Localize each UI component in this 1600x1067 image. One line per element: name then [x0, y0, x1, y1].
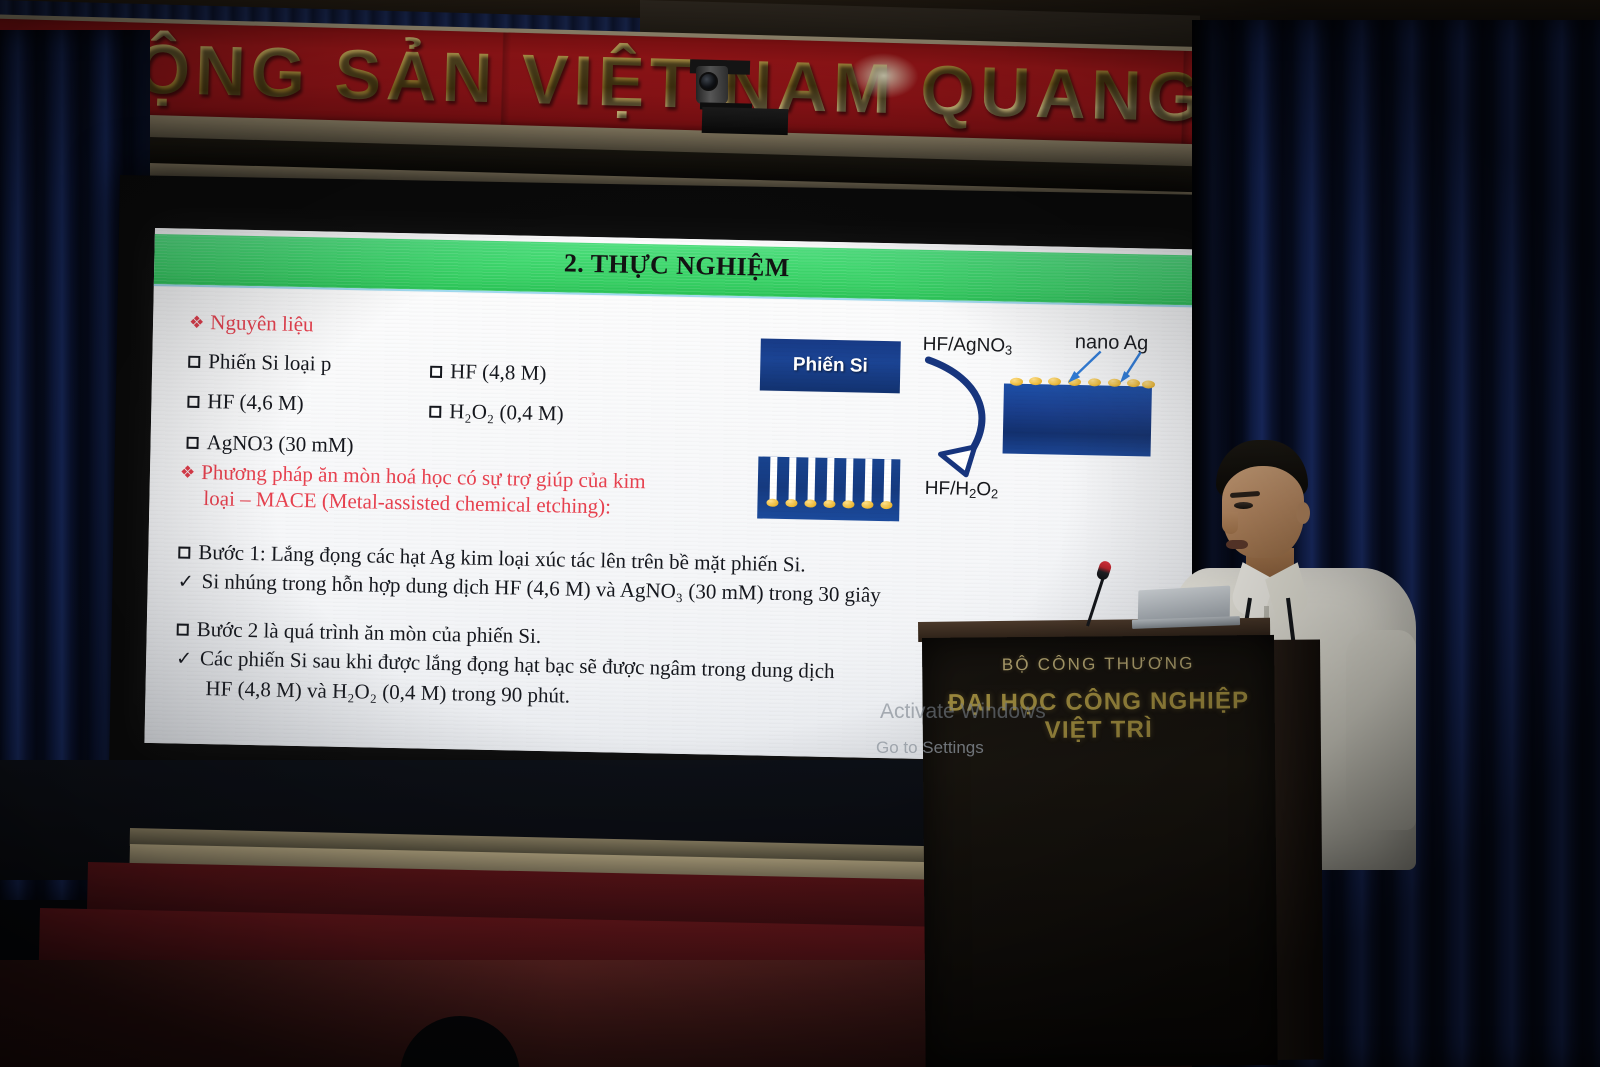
- checkbox-icon: [188, 356, 200, 368]
- checkbox-icon: [430, 366, 442, 378]
- checkbox-icon: [429, 406, 441, 418]
- ag-nanoparticle: [1048, 377, 1061, 385]
- ag-nanoparticle: [842, 500, 854, 508]
- activate-windows-watermark: Activate Windows: [880, 700, 1046, 724]
- checkbox-icon: [178, 547, 190, 559]
- etch-channel: [864, 459, 872, 503]
- presenter-right-arm: [1346, 630, 1416, 830]
- diagram-etched-nanowire-wafer: [757, 456, 900, 521]
- ag-nanoparticle: [785, 499, 797, 507]
- checkbox-icon: [177, 624, 189, 636]
- etch-channel: [770, 457, 778, 501]
- conference-hall-photo: NG CỘNG SẢN VIỆT NAM QUANG VINH MUÔN 2. …: [0, 0, 1600, 1067]
- diagram-silicon-wafer-block: Phiến Si: [760, 339, 901, 394]
- checkbox-icon: [186, 436, 198, 448]
- diagram-pointer-arrows-icon: [1062, 349, 1149, 387]
- podium-ministry-label: BỘ CÔNG THƯƠNG: [922, 653, 1274, 676]
- material-item: H₂O₂ (0,4 M): [429, 398, 729, 431]
- presenter-eye: [1234, 502, 1253, 509]
- diamond-bullet-icon: ❖: [189, 313, 205, 332]
- materials-heading: ❖Nguyên liệu: [189, 309, 489, 341]
- material-item: HF (4,8 M): [430, 358, 730, 391]
- ag-nanoparticle: [880, 501, 892, 509]
- ag-nanoparticle: [1010, 378, 1023, 386]
- camera-lens-icon: [699, 72, 718, 91]
- presenter-ear: [1296, 502, 1310, 524]
- diagram-wafer-label: Phiến Si: [760, 339, 901, 394]
- check-mark-icon: ✓: [177, 572, 193, 593]
- banner-light-glint: [848, 52, 919, 100]
- go-to-settings-watermark[interactable]: Go to Settings: [876, 738, 984, 758]
- materials-right-column: HF (4,8 M) H₂O₂ (0,4 M): [429, 358, 731, 445]
- ag-nanoparticle: [1029, 377, 1042, 385]
- etch-channel: [808, 458, 816, 502]
- etch-channel: [827, 458, 835, 502]
- ag-nanoparticle: [861, 501, 873, 509]
- etch-channel: [789, 457, 797, 501]
- mace-process-diagram: Phiến Si HF/AgNO3 nano Ag HF/H2O2: [748, 316, 1193, 565]
- etch-channel: [845, 458, 853, 502]
- diagram-wafer-with-ag: [1003, 384, 1152, 457]
- ag-nanoparticle: [823, 500, 835, 508]
- camera-ceiling-bracket: [702, 107, 789, 135]
- checkbox-icon: [187, 396, 199, 408]
- ag-nanoparticle: [766, 499, 778, 507]
- method-heading-block: ❖Phương pháp ăn mòn hoá học có sự trợ gi…: [179, 459, 790, 524]
- etch-channel: [883, 459, 891, 503]
- check-mark-icon: ✓: [176, 649, 192, 670]
- diamond-bullet-icon: ❖: [180, 463, 196, 482]
- presenter-mouth: [1226, 540, 1248, 549]
- presenter-nose: [1222, 512, 1238, 534]
- ag-nanoparticle: [804, 499, 816, 507]
